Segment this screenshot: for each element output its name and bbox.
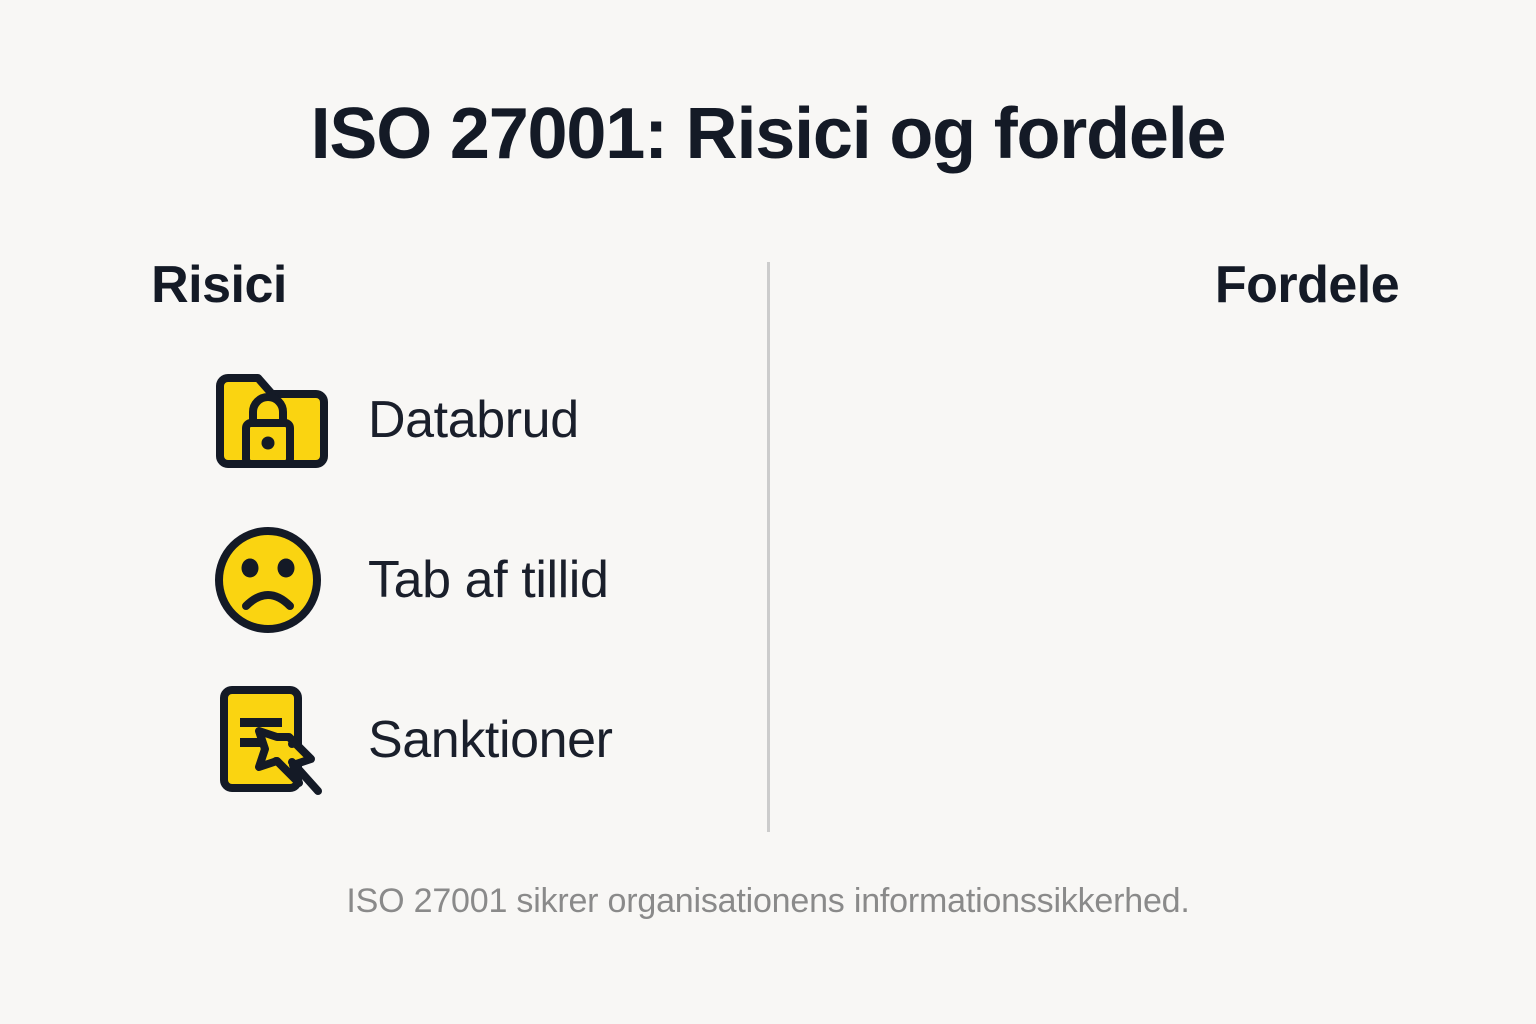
columns-container: Risici Databrud [0,255,1536,855]
sad-face-icon [206,520,330,640]
page-title: ISO 27001: Risici og fordele [0,96,1536,172]
folder-lock-icon [206,360,330,480]
document-gavel-icon [206,680,330,800]
list-item: Tab af tillid [206,520,768,640]
footer-caption: ISO 27001 sikrer organisationens informa… [0,882,1536,921]
list-item: Databrud [206,360,768,480]
column-heading-risici: Risici [0,255,768,315]
list-item-label: Databrud [368,390,579,450]
list-item-label: Sanktioner [368,710,613,770]
list-item-label: Tab af tillid [368,550,608,610]
column-risici: Risici Databrud [0,255,768,855]
items-list-fordele: Beskyttelse Compliance [768,360,1536,800]
items-list-risici: Databrud Tab af tillid [0,360,768,800]
infographic-poster: ISO 27001: Risici og fordele Risici Dat [0,0,1536,1024]
column-heading-fordele: Fordele [768,255,1536,315]
list-item: Sanktioner [206,680,768,800]
column-fordele: Fordele Beskyttelse [768,255,1536,855]
